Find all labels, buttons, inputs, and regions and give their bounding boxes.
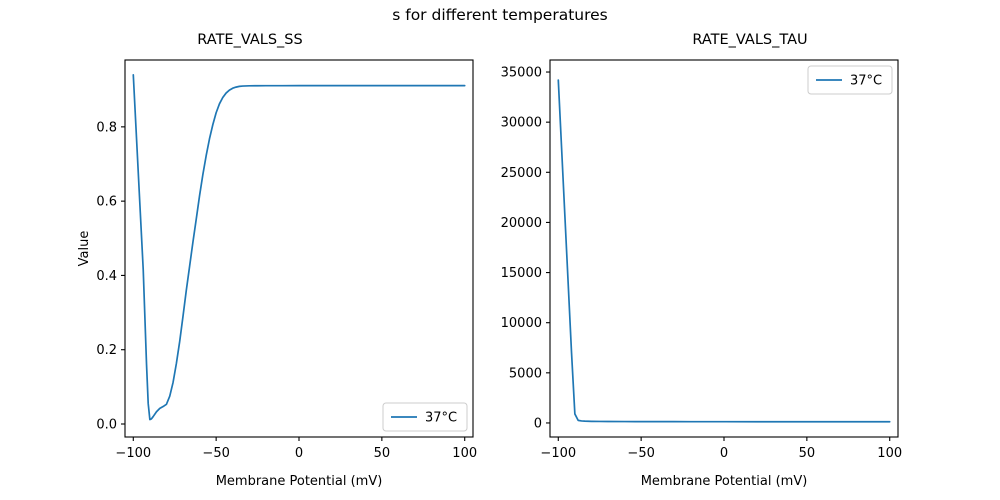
subplot-title-left: RATE_VALS_SS	[0, 32, 500, 48]
y-tick-label: 0.2	[96, 343, 117, 358]
y-tick-label: 20000	[501, 216, 542, 231]
chart-svg-right: −100−50050100050001000015000200002500030…	[500, 0, 1000, 500]
x-tick-label: −50	[627, 446, 654, 461]
y-tick-label: 15000	[501, 266, 542, 281]
subplot-rate-vals-ss: RATE_VALS_SS −100−500501000.00.20.40.60.…	[0, 0, 500, 500]
data-series-line	[558, 80, 889, 422]
axes-frame	[550, 60, 898, 437]
x-tick-label: 50	[374, 446, 391, 461]
axes-frame	[125, 60, 473, 437]
x-tick-label: 100	[452, 446, 477, 461]
legend-label: 37°C	[425, 411, 457, 426]
y-tick-label: 0.0	[96, 418, 117, 433]
x-axis-label: Membrane Potential (mV)	[641, 474, 808, 489]
x-tick-label: 0	[295, 446, 303, 461]
legend-label: 37°C	[850, 74, 882, 89]
y-tick-label: 0.8	[96, 120, 117, 135]
y-tick-label: 30000	[501, 116, 542, 131]
y-axis-label: Value	[500, 231, 502, 267]
x-tick-label: 0	[720, 446, 728, 461]
y-tick-label: 0.4	[96, 269, 117, 284]
y-tick-label: 5000	[509, 366, 542, 381]
y-axis-label: Value	[77, 231, 92, 267]
chart-svg-left: −100−500501000.00.20.40.60.8Membrane Pot…	[0, 0, 500, 500]
subplot-rate-vals-tau: RATE_VALS_TAU −100−500501000500010000150…	[500, 0, 1000, 500]
y-tick-label: 10000	[501, 316, 542, 331]
x-axis-label: Membrane Potential (mV)	[216, 474, 383, 489]
figure-canvas: s for different temperatures RATE_VALS_S…	[0, 0, 1000, 500]
y-tick-label: 0.6	[96, 195, 117, 210]
x-tick-label: 100	[877, 446, 902, 461]
y-tick-label: 35000	[501, 66, 542, 81]
x-tick-label: −100	[115, 446, 151, 461]
y-tick-label: 25000	[501, 166, 542, 181]
x-tick-label: −100	[540, 446, 576, 461]
subplot-title-right: RATE_VALS_TAU	[500, 32, 1000, 48]
y-tick-label: 0	[534, 416, 542, 431]
data-series-line	[133, 75, 464, 420]
x-tick-label: −50	[202, 446, 229, 461]
x-tick-label: 50	[799, 446, 816, 461]
legend[interactable]: 37°C	[383, 403, 467, 431]
legend[interactable]: 37°C	[808, 66, 892, 94]
